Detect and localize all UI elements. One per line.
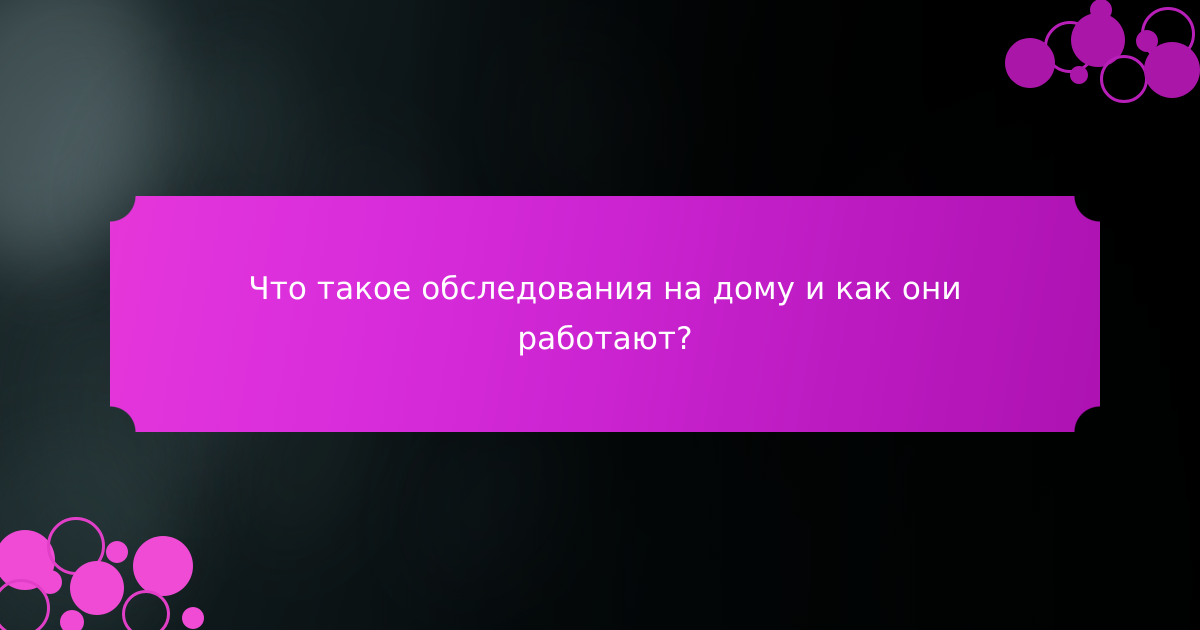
page-title: Что такое обследования на дому и как они…: [110, 196, 1100, 432]
title-banner: Что такое обследования на дому и как они…: [110, 196, 1100, 432]
social-card: Что такое обследования на дому и как они…: [0, 0, 1200, 630]
